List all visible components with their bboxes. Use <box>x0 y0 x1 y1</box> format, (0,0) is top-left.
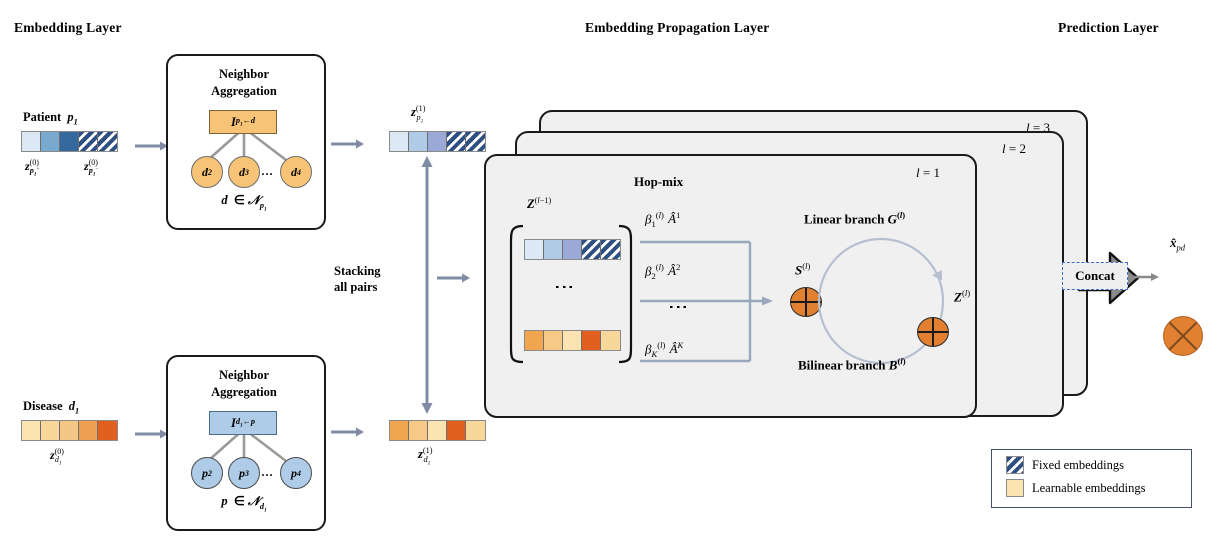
z-plus-node <box>917 317 949 347</box>
neighbor-node-d3: d3 <box>228 156 260 188</box>
patient-title-prefix: Patient <box>23 110 61 124</box>
disease-title-prefix: Disease <box>23 399 63 413</box>
arrow-aggregation-to-disease-output <box>331 424 365 442</box>
header-embedding-propagation-layer: Embedding Propagation Layer <box>585 20 769 36</box>
hopmix-bus-lines <box>638 228 778 378</box>
stacking-label-line2: all pairs <box>334 279 381 295</box>
concat-box[interactable]: Concat <box>1062 262 1128 290</box>
embedding-cell <box>60 132 79 151</box>
embedding-cell <box>60 421 79 440</box>
embedding-cell <box>98 421 117 440</box>
embedding-cell <box>390 421 409 440</box>
disease-interaction-box: Id1←p <box>209 411 277 435</box>
propagation-panel-l1-tag: l = 1 <box>916 165 940 181</box>
patient-aggregation-title: Neighbor Aggregation <box>166 66 322 100</box>
embedding-cell <box>390 132 409 151</box>
disease-aggregation-title-line1: Neighbor <box>166 367 322 384</box>
learnable-embedding-swatch-icon <box>1006 479 1024 497</box>
embedding-cell <box>409 132 428 151</box>
fixed-embedding-swatch-icon <box>1006 456 1024 474</box>
input-matrix-label: Z(l−1) <box>527 196 551 212</box>
propagation-panel-l2-tag: l = 2 <box>1002 141 1026 157</box>
stacking-label: Stacking all pairs <box>334 263 381 295</box>
embedding-cell <box>582 331 601 350</box>
disease-aggregation-title: Neighbor Aggregation <box>166 367 322 401</box>
matrix-row-disease <box>524 330 621 351</box>
embedding-cell <box>41 421 60 440</box>
legend-label-fixed: Fixed embeddings <box>1032 458 1124 473</box>
embedding-cell <box>563 240 582 259</box>
patient-aggregation-title-line2: Aggregation <box>166 83 322 100</box>
embedding-cell <box>41 132 60 151</box>
hopmix-title: Hop-mix <box>634 174 683 190</box>
embedding-cell <box>525 240 544 259</box>
arrow-concat-to-output <box>1130 269 1160 287</box>
embedding-cell <box>428 132 447 151</box>
embedding-cell <box>563 331 582 350</box>
patient-interaction-box: Ip1←d <box>209 110 277 134</box>
patient-embedding-sublabel-positive: z(0)p1+ <box>25 158 39 178</box>
disease-embedding-sublabel: z(0)d1 <box>50 447 64 467</box>
header-prediction-layer-text: Prediction Layer <box>1058 20 1159 35</box>
header-prediction-layer: Prediction Layer <box>1058 20 1159 36</box>
embedding-cell <box>428 421 447 440</box>
stacking-double-arrow <box>420 154 434 421</box>
disease-output-label: z(1)d1 <box>418 446 433 466</box>
neighbor-node-d4: d4 <box>280 156 312 188</box>
embedding-cell-fixed <box>98 132 117 151</box>
legend-item-learnable: Learnable embeddings <box>1006 479 1146 497</box>
embedding-cell <box>409 421 428 440</box>
disease-title: Disease d1 <box>23 399 79 416</box>
linear-branch-label: Linear branch G(l) <box>804 210 905 227</box>
arrow-patient-to-aggregation <box>135 138 169 156</box>
patient-title: Patient p1 <box>23 110 78 127</box>
embedding-cell <box>544 331 563 350</box>
patient-output-label: z(1)p1 <box>411 104 426 124</box>
matrix-row-patient <box>524 239 621 260</box>
bilinear-branch-label: Bilinear branch B(l) <box>798 356 906 373</box>
neighbor-node-p2: p2 <box>191 457 223 489</box>
branch-circle <box>805 233 957 374</box>
disease-aggregation-title-line2: Aggregation <box>166 384 322 401</box>
embedding-cell <box>525 331 544 350</box>
neighbor-ellipsis-patient: … <box>261 164 273 179</box>
patient-embedding-sublabel-negative: z(0)p1− <box>84 158 98 178</box>
embedding-cell <box>544 240 563 259</box>
stacking-label-line1: Stacking <box>334 263 381 279</box>
header-embedding-propagation-layer-text: Embedding Propagation Layer <box>585 20 769 35</box>
embedding-cell <box>22 132 41 151</box>
disease-output-bar <box>389 420 486 441</box>
z-node-label: Z(l) <box>954 288 970 305</box>
embedding-cell <box>466 421 485 440</box>
neighbor-node-p3: p3 <box>228 457 260 489</box>
prediction-output-label: x̂pd <box>1170 235 1185 253</box>
embedding-cell <box>601 331 620 350</box>
embedding-cell <box>447 421 466 440</box>
legend-label-learnable: Learnable embeddings <box>1032 481 1146 496</box>
neighbor-ellipsis-disease: … <box>261 465 273 480</box>
neighbor-node-p4: p4 <box>280 457 312 489</box>
embedding-cell-fixed <box>466 132 485 151</box>
header-embedding-layer: Embedding Layer <box>14 20 122 36</box>
embedding-cell-fixed <box>79 132 98 151</box>
patient-embedding-bar <box>21 131 118 152</box>
arrow-aggregation-to-patient-output <box>331 136 365 154</box>
disease-embedding-bar <box>21 420 118 441</box>
disease-aggregation-footer: p ∈ 𝒩d1 <box>166 493 322 513</box>
embedding-cell <box>79 421 98 440</box>
embedding-cell-fixed <box>601 240 620 259</box>
matrix-vertical-ellipsis: ⋮ <box>558 277 570 297</box>
legend-item-fixed: Fixed embeddings <box>1006 456 1124 474</box>
neighbor-node-d2: d2 <box>191 156 223 188</box>
embedding-cell <box>22 421 41 440</box>
beta-term-1: β1(l) Â1 <box>645 210 680 229</box>
prediction-output-node <box>1163 316 1203 356</box>
patient-aggregation-title-line1: Neighbor <box>166 66 322 83</box>
patient-aggregation-footer: d ∈ 𝒩p1 <box>166 192 322 212</box>
arrow-stacking-to-propagation <box>437 270 471 288</box>
header-embedding-layer-text: Embedding Layer <box>14 20 122 35</box>
arrow-disease-to-aggregation <box>135 426 169 444</box>
patient-output-bar <box>389 131 486 152</box>
embedding-cell-fixed <box>447 132 466 151</box>
embedding-cell-fixed <box>582 240 601 259</box>
